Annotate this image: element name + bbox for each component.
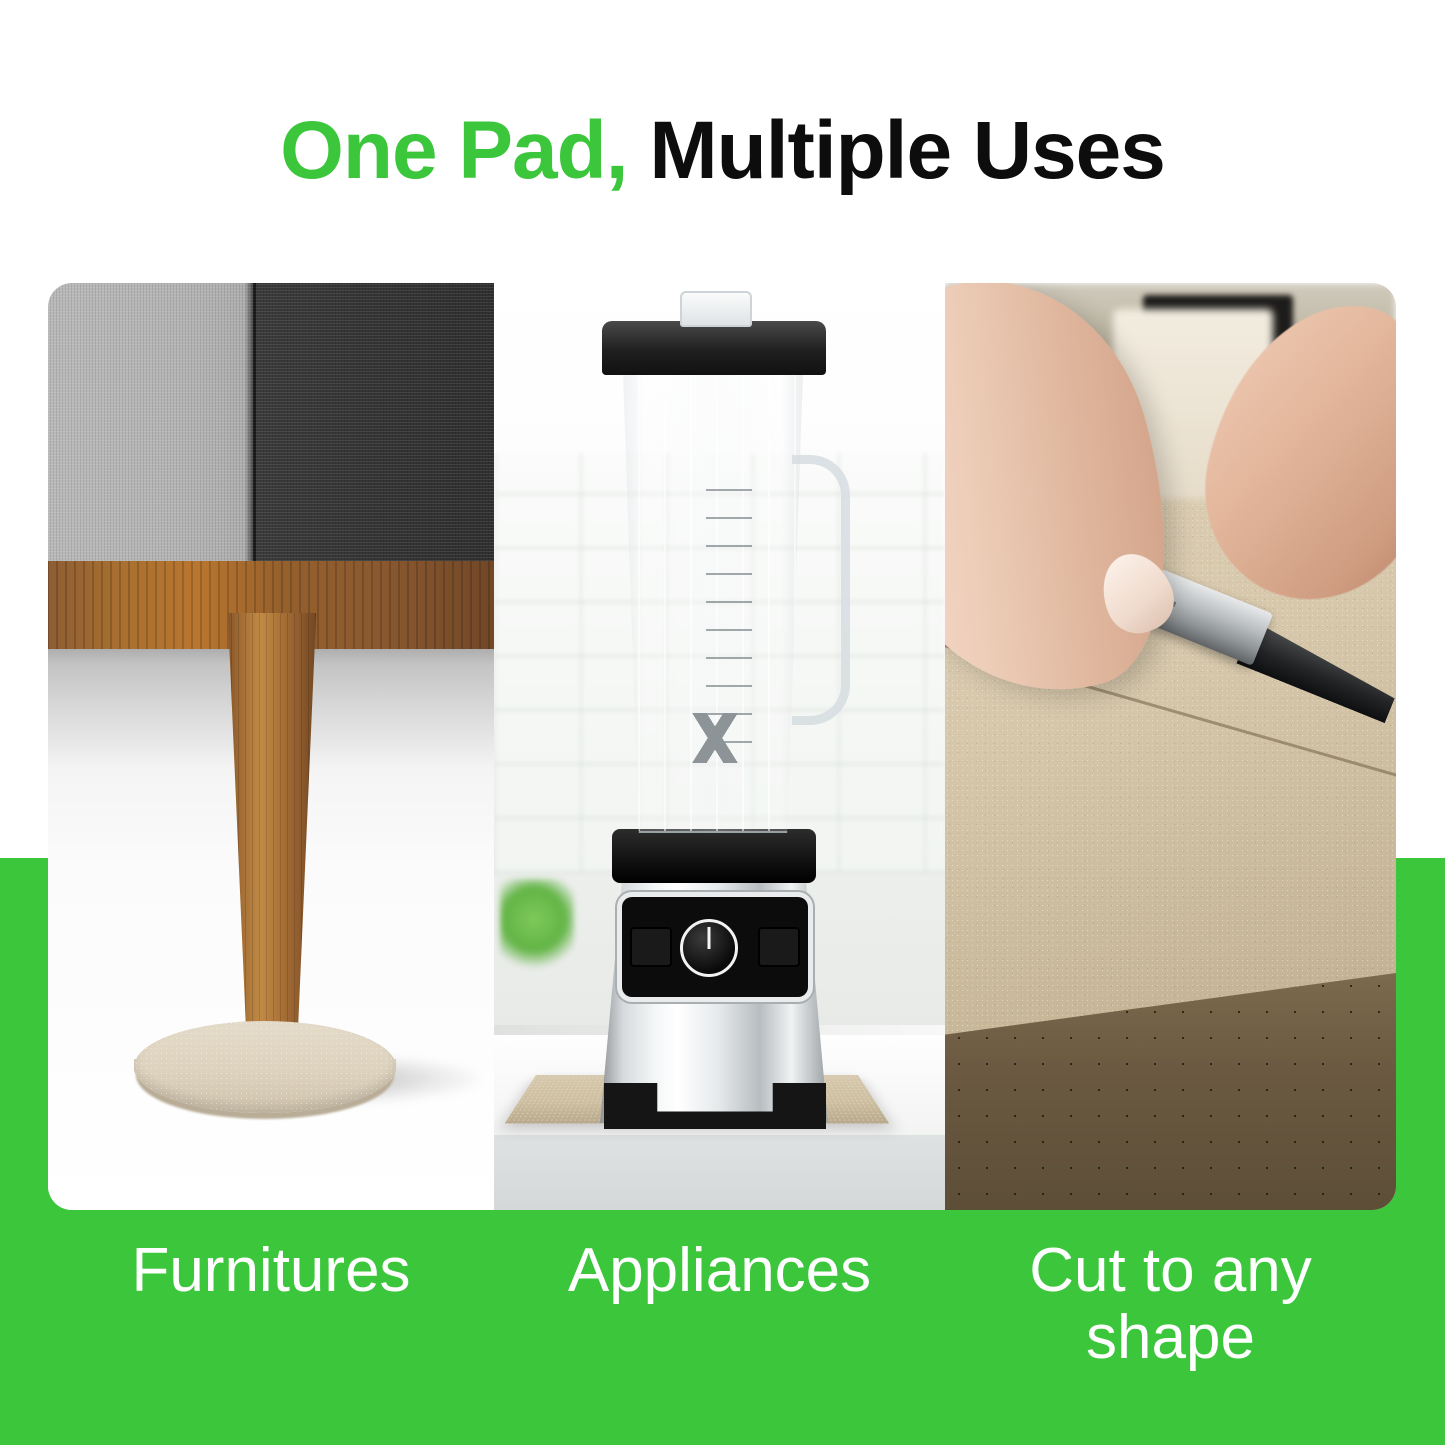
- headline-green-part: One Pad,: [280, 105, 627, 196]
- headline-dark-part: Multiple Uses: [628, 105, 1165, 196]
- page-title: One Pad, Multiple Uses: [0, 108, 1445, 194]
- sofa-fabric-body: [48, 283, 494, 567]
- image-panel-strip: [48, 283, 1396, 1210]
- product-infographic: One Pad, Multiple Uses: [0, 0, 1445, 1445]
- blender-jar-collar: [612, 829, 816, 883]
- blender-blades: [670, 713, 760, 763]
- blender-switch-left: [630, 927, 672, 967]
- blender-speed-dial: [680, 919, 738, 977]
- kitchen-plant: [500, 879, 574, 975]
- caption-furnitures: Furnitures: [48, 1238, 494, 1372]
- sofa-seam: [253, 283, 256, 573]
- caption-cut-to-any-shape: Cut to any shape: [945, 1238, 1396, 1372]
- round-felt-pad: [134, 1021, 396, 1113]
- blender-control-panel: [622, 897, 808, 997]
- panel-furniture: [48, 283, 494, 1210]
- blender-switch-right: [758, 927, 800, 967]
- blender-lid-cap: [680, 291, 752, 327]
- panel-cut-to-shape: [945, 283, 1396, 1210]
- caption-appliances: Appliances: [494, 1238, 945, 1372]
- caption-row: Furnitures Appliances Cut to any shape: [48, 1238, 1396, 1372]
- blender-handle: [792, 455, 850, 725]
- blender-measurement-marks: [706, 463, 752, 743]
- blender-lid: [602, 321, 826, 375]
- kitchen-floor: [494, 1135, 945, 1210]
- panel-appliances: [494, 283, 945, 1210]
